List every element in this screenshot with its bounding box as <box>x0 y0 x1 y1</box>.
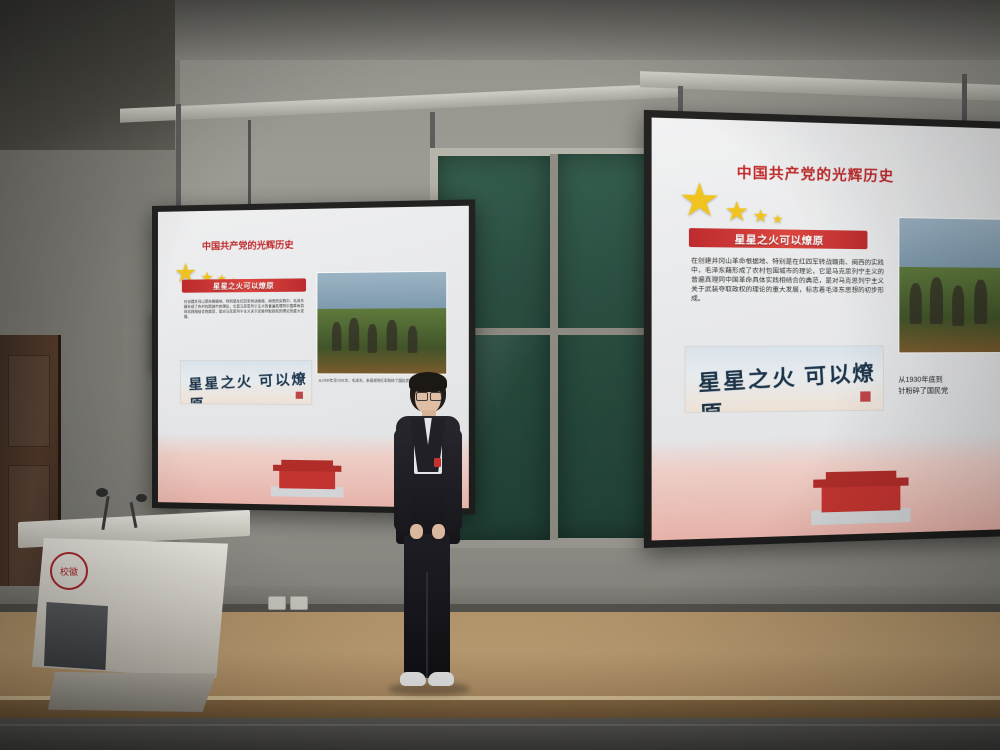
lectern-base <box>48 672 216 712</box>
slide-body-left: 在创建井冈山革命根据地、特别是在红四军转战赣南、闽西的实践中，毛泽东藉形成了农村… <box>184 299 304 320</box>
star-icon: ★ <box>752 207 768 225</box>
presenter <box>378 372 474 712</box>
lecture-hall-photo: ★ ★ ★ ★ 中国共产党的光辉历史 星星之火可以燎原 在创建井冈山革命根据地、… <box>0 0 1000 750</box>
star-icon: ★ <box>724 197 749 225</box>
slide-side-note-right: 从1930年底到 针粉碎了国民党 <box>898 375 1000 397</box>
photo-figure <box>332 322 341 351</box>
photo-sky <box>899 218 1000 270</box>
screen-hanger-left-3 <box>248 120 251 212</box>
screen-hanger-left-1 <box>176 104 181 212</box>
photo-figure <box>408 326 418 353</box>
power-outlet[interactable] <box>290 596 308 610</box>
seal-stamp <box>860 391 870 401</box>
star-group-right: ★ ★ ★ ★ <box>678 177 783 225</box>
slide-subtitle-ribbon-left: 星星之火可以燎原 <box>182 278 306 292</box>
glasses-icon <box>416 392 428 401</box>
floor <box>0 718 1000 750</box>
presenter-fringe <box>409 372 447 392</box>
slide-photo-left <box>316 271 447 375</box>
presenter-hand-left <box>410 524 423 539</box>
presenter-shoe-right <box>428 672 454 686</box>
presenter-arm-right <box>444 428 462 532</box>
ceiling-corner-shadow <box>0 0 175 150</box>
calligraphy-text: 星星之火 可以燎原 <box>188 368 312 405</box>
projection-screen-right: ★ ★ ★ ★ 中国共产党的光辉历史 星星之火可以燎原 在创建井冈山革命根据地、… <box>644 110 1000 548</box>
microphone-icon <box>96 488 108 497</box>
photo-figure <box>368 324 377 353</box>
lectern-control-panel[interactable] <box>44 602 108 670</box>
presenter-shoe-left <box>400 672 426 686</box>
school-emblem-icon: 校徽 <box>50 552 88 590</box>
photo-figure <box>349 318 359 351</box>
photo-sky <box>317 272 446 312</box>
screen-hanger-right-2 <box>962 74 967 126</box>
tiananmen-roof <box>273 465 341 472</box>
power-outlet[interactable] <box>268 596 286 610</box>
photo-figure <box>910 283 922 324</box>
photo-figure <box>974 280 987 324</box>
slide-body-right: 在创建井冈山革命根据地、特别是在红四军转战赣南、闽西的实践中，毛泽东藉形成了农村… <box>691 258 884 306</box>
seal-stamp <box>296 392 303 399</box>
lectern: 校徽 <box>18 516 250 706</box>
slide-right: ★ ★ ★ ★ 中国共产党的光辉历史 星星之火可以燎原 在创建井冈山革命根据地、… <box>652 118 1000 541</box>
blackboard-divider <box>550 154 558 540</box>
photo-figure <box>930 277 943 324</box>
tiananmen-body <box>279 470 335 489</box>
door-panel-upper <box>8 355 50 447</box>
slide-calligraphy-right: 星星之火 可以燎原 <box>685 345 884 413</box>
tiananmen-body <box>822 484 901 513</box>
slide-title-left: 中国共产党的光辉历史 <box>202 238 294 253</box>
photo-figure <box>952 286 964 326</box>
microphone-icon-2 <box>136 494 147 502</box>
glasses-icon-right <box>430 392 442 401</box>
trouser-seam <box>426 572 428 678</box>
floor-seam <box>0 724 1000 726</box>
slide-calligraphy-left: 星星之火 可以燎原 <box>180 360 312 405</box>
slide-title-right: 中国共产党的光辉历史 <box>737 162 895 186</box>
tiananmen-roof-upper <box>281 460 333 466</box>
calligraphy-text: 星星之火 可以燎原 <box>697 356 884 413</box>
photo-figure <box>387 320 398 351</box>
star-icon: ★ <box>678 177 721 224</box>
slide-subtitle-ribbon-right: 星星之火可以燎原 <box>689 228 868 249</box>
star-icon: ★ <box>772 213 783 226</box>
presenter-hand-right <box>432 524 445 539</box>
presenter-arm-left <box>394 428 412 532</box>
slide-photo-right <box>898 217 1000 353</box>
lapel-badge <box>434 458 441 467</box>
